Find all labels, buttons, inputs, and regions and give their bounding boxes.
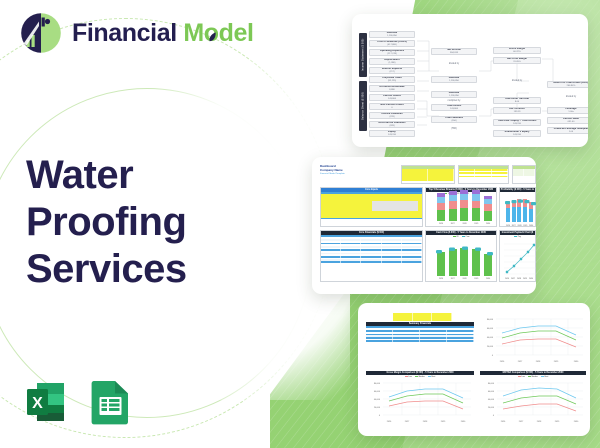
dupont-node: Net Profit Margin31.05% — [493, 57, 541, 64]
reports-content: Summary Financials — [363, 309, 585, 430]
ebitda-line-chart: 80,000 60,000 40,000 20,000 0 2026 2027 … — [480, 313, 586, 367]
svg-text:80,000: 80,000 — [488, 383, 495, 385]
dupont-value: (556) — [431, 127, 477, 131]
dashboard-content: Dashboard Company Name Financial Model T… — [317, 163, 531, 288]
dashboard-core-inputs-panel: Core Inputs — [320, 187, 423, 227]
brand-logo: Financial Model — [20, 12, 254, 54]
dupont-node: Interest Expense(217) — [369, 67, 415, 74]
dashboard-cash-flow-panel: Cash Flow ($ 000) - 5 Years to December … — [425, 230, 497, 282]
profitability-markers — [500, 192, 536, 226]
svg-text:2026: 2026 — [500, 361, 505, 363]
stacked-bar-chart — [435, 197, 494, 221]
dupont-node: Revenue1,236,850 — [431, 76, 477, 83]
dupont-node: Return on Total Assets (ROA)266.94% — [547, 81, 588, 88]
dupont-band-balance-sheet: Balance Sheet ($ 000) — [359, 81, 367, 131]
dupont-node: Total Asset Turnover8.60 — [493, 97, 541, 104]
x-axis-labels: 20262027202820292030 — [504, 278, 534, 280]
x-axis-labels: 20262027202820292030 — [435, 278, 494, 280]
svg-text:60,000: 60,000 — [488, 391, 495, 393]
dupont-node: Revenue1,236,850 — [369, 31, 415, 38]
dupont-analysis-card[interactable]: Income Statement ($ 000) Balance Sheet (… — [352, 14, 588, 147]
dashboard-input-panel-2 — [458, 165, 509, 184]
dashboard-revenue-streams-panel: Top 5 Revenue Streams ($ 000) - 5 Years … — [425, 187, 497, 227]
dupont-node: Cost of Revenue (COGS)(417,880) — [369, 40, 415, 47]
svg-text:0: 0 — [379, 415, 381, 417]
reports-charts-card[interactable]: Summary Financials — [358, 303, 590, 436]
bar — [437, 193, 445, 221]
svg-text:X: X — [32, 395, 43, 412]
dashboard-input-panel-1 — [401, 165, 455, 184]
financial-dashboard-card[interactable]: Dashboard Company Name Financial Model T… — [312, 157, 536, 294]
brand-name-part1: Financial — [72, 19, 177, 47]
file-format-icons: X — [22, 378, 132, 430]
svg-text:0: 0 — [492, 355, 494, 357]
dupont-node: Current Liabilities(228) — [369, 112, 415, 119]
svg-text:2030: 2030 — [461, 421, 466, 423]
bar — [449, 191, 457, 221]
page-title-line-2: Proofing — [26, 199, 187, 246]
page-title-line-3: Services — [26, 246, 187, 293]
svg-text:2029: 2029 — [554, 361, 559, 363]
svg-text:20,000: 20,000 — [487, 346, 494, 348]
svg-text:2028: 2028 — [536, 361, 541, 363]
dupont-operator: multiplied by — [431, 99, 477, 103]
svg-text:2027: 2027 — [518, 361, 523, 363]
bar — [460, 190, 468, 221]
dupont-node: Total Liab / Equity = Total Assets143,31… — [493, 119, 541, 126]
bar — [484, 196, 492, 221]
dupont-node: Accounts Receivable8,886 — [369, 85, 415, 92]
dupont-node: Leverage1.00x — [547, 107, 588, 114]
svg-text:60,000: 60,000 — [374, 391, 381, 393]
dashboard-title: Dashboard Company Name Financial Model T… — [320, 165, 345, 175]
dupont-node: Current Ratio631.00 — [547, 117, 588, 124]
reports-summary-table: Summary Financials — [366, 313, 474, 367]
dupont-band-income-statement: Income Statement ($ 000) — [359, 33, 367, 77]
dupont-node: Non-Current Assets0 — [369, 103, 415, 110]
svg-text:40,000: 40,000 — [374, 399, 381, 401]
dashboard-core-financials-panel: Core Financials ($ 000) — [320, 230, 423, 282]
ebitda-bottom-line-chart: 80,000 60,000 40,000 20,000 0 2026 2027 … — [480, 378, 586, 428]
dupont-operator: divided by — [431, 62, 477, 67]
dupont-operator: divided by — [493, 79, 541, 84]
brand-name-part3: del — [219, 19, 254, 47]
panel-title: Cash Flow ($ 000) - 5 Years to December … — [426, 231, 496, 235]
dupont-node: Non-Current Liabilities(328) — [369, 121, 415, 128]
svg-text:2029: 2029 — [555, 421, 560, 423]
dupont-node: Depreciation(1,386) — [369, 58, 415, 65]
payback-line-chart — [500, 238, 536, 280]
google-sheets-icon[interactable] — [90, 378, 132, 430]
dupont-node: Total Assets143,866 — [431, 104, 477, 111]
dupont-node: Financial Leverage multiplier1.00 — [547, 127, 588, 134]
dupont-node: Gross margin66.22% — [493, 47, 541, 54]
page-title-line-1: Water — [26, 152, 187, 199]
dupont-node: Corporate Taxes(92,225) — [369, 76, 415, 83]
dupont-node: Shareholder's Equity143,310 — [493, 130, 541, 137]
dashboard-input-panel-3 — [512, 165, 536, 184]
svg-text:2030: 2030 — [574, 361, 579, 363]
dupont-diagram: Income Statement ($ 000) Balance Sheet (… — [357, 21, 583, 140]
dupont-node: Current Assets143,866 — [369, 94, 415, 101]
svg-text:40,000: 40,000 — [487, 337, 494, 339]
svg-text:20,000: 20,000 — [488, 407, 495, 409]
reports-gross-margin-chart: Gross Margin Comparison ($ 000) - 5 Year… — [366, 371, 474, 433]
reports-ebitda-chart-top: 80,000 60,000 40,000 20,000 0 2026 2027 … — [480, 313, 586, 367]
brand-name-part2: M — [183, 19, 203, 47]
financial-model-circle-logo — [20, 12, 62, 54]
svg-text:2029: 2029 — [441, 421, 446, 423]
svg-text:2027: 2027 — [405, 421, 410, 423]
dashboard-profitability-panel: Profitability ($ 000) - 5 Years to Decem… — [499, 187, 536, 227]
svg-text:2027: 2027 — [519, 421, 524, 423]
svg-text:60,000: 60,000 — [487, 328, 494, 330]
svg-text:2028: 2028 — [423, 421, 428, 423]
microsoft-excel-icon[interactable]: X — [22, 378, 69, 430]
page-title: Water Proofing Services — [26, 152, 187, 294]
svg-text:20,000: 20,000 — [374, 407, 381, 409]
panel-title: Investment Payback Chart ($ 000) - 5 Yea… — [500, 231, 535, 235]
dupont-node: Equity143,310 — [369, 130, 415, 137]
cash-flow-markers — [426, 238, 498, 280]
bar — [472, 190, 480, 220]
leaf-icon — [208, 32, 217, 44]
dupont-node: A/R Turnover139.19 — [493, 107, 541, 114]
x-axis-labels: 20262027202820292030 — [435, 223, 494, 225]
x-axis-labels: 20262027202820292030 — [505, 225, 534, 227]
brand-logo-o: o — [204, 19, 219, 48]
dashboard-payback-panel: Investment Payback Chart ($ 000) - 5 Yea… — [499, 230, 536, 282]
svg-text:40,000: 40,000 — [488, 399, 495, 401]
svg-text:0: 0 — [493, 415, 495, 417]
dupont-node: Net Income384,033 — [431, 48, 477, 55]
gross-margin-line-chart: 80,000 60,000 40,000 20,000 0 2026 2027 … — [366, 378, 474, 428]
brand-name: Financial Model — [72, 19, 254, 48]
dupont-node: Total Liabilities(556) — [431, 116, 477, 123]
svg-text:2028: 2028 — [537, 421, 542, 423]
dupont-operator: divided by — [547, 95, 588, 100]
reports-ebitda-chart-bottom: EBITDA Comparison ($ 000) - 5 Years to D… — [480, 371, 586, 433]
svg-text:80,000: 80,000 — [487, 319, 494, 321]
svg-text:2026: 2026 — [501, 421, 506, 423]
svg-text:2026: 2026 — [387, 421, 392, 423]
dupont-node: Operating Expenses(217,748) — [369, 49, 415, 56]
svg-text:2030: 2030 — [574, 421, 579, 423]
svg-text:80,000: 80,000 — [374, 383, 381, 385]
dupont-node: Revenue1,236,850 — [431, 91, 477, 98]
